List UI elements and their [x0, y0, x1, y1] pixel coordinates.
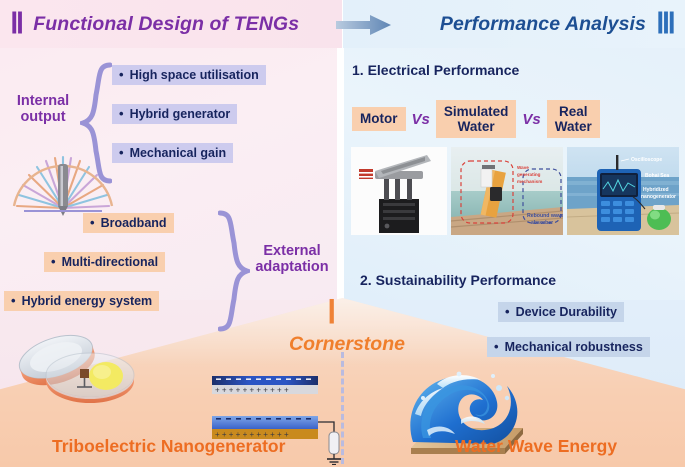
svg-text:Wave: Wave	[517, 165, 529, 170]
figure-root: Ⅱ Functional Design of TENGs Performance…	[0, 0, 685, 467]
roman-numeral-three-icon: Ⅲ	[656, 10, 675, 39]
heading-sustainability-performance: 2. Sustainability Performance	[360, 272, 556, 288]
external-item-2-label: Hybrid energy system	[22, 294, 153, 308]
triboelectric-nanogenerator-label: Triboelectric Nanogenerator	[52, 436, 285, 457]
external-brace-icon	[218, 210, 250, 332]
panel-divider	[337, 0, 344, 320]
comparison-item-motor: Motor	[352, 107, 406, 130]
internal-item-2-chip: •Mechanical gain	[112, 143, 233, 163]
heading-electrical-performance: 1. Electrical Performance	[352, 62, 519, 78]
right-header-title: Performance Analysis	[440, 13, 646, 36]
header-functional-design: Ⅱ Functional Design of TENGs	[0, 0, 342, 48]
internal-item-1-label: Hybrid generator	[130, 107, 231, 121]
roman-numeral-one-icon: Ⅰ	[327, 296, 336, 328]
svg-text:+ + + + + + + + + + +: + + + + + + + + + + +	[215, 386, 289, 395]
external-item-1: •Multi-directional	[44, 252, 165, 272]
external-item-2-chip: •Hybrid energy system	[4, 291, 159, 311]
comparison-row: Motor Vs SimulatedWater Vs RealWater	[352, 96, 678, 142]
external-item-0-chip: •Broadband	[83, 213, 174, 233]
right-arrow-icon	[336, 14, 392, 36]
bullet-icon: •	[119, 67, 124, 82]
bullet-icon: •	[90, 215, 95, 230]
bullet-icon: •	[119, 145, 124, 160]
radial-fan-teng-illustration	[8, 148, 118, 218]
sustainability-item-0-chip: •Device Durability	[498, 302, 624, 322]
sustainability-item-1-chip: •Mechanical robustness	[487, 337, 650, 357]
sustainability-item-1: •Mechanical robustness	[487, 337, 650, 357]
svg-text:absorber: absorber	[531, 220, 553, 226]
water-wave-energy-label: Water Wave Energy	[455, 436, 617, 457]
internal-item-2: •Mechanical gain	[112, 143, 233, 163]
linear-motor-photo	[351, 147, 447, 235]
svg-text:Oscilloscope: Oscilloscope	[631, 157, 662, 163]
comparison-separator-2: Vs	[522, 111, 540, 128]
bullet-icon: •	[119, 106, 124, 121]
svg-text:generating: generating	[517, 172, 541, 177]
external-item-0-label: Broadband	[101, 216, 167, 230]
internal-item-0: •High space utilisation	[112, 65, 266, 85]
header-performance-analysis: Performance Analysis Ⅲ	[343, 0, 685, 48]
external-item-1-chip: •Multi-directional	[44, 252, 165, 272]
external-item-1-label: Multi-directional	[62, 255, 159, 269]
left-header-title: Functional Design of TENGs	[33, 13, 299, 36]
sustainability-item-1-label: Mechanical robustness	[505, 340, 643, 354]
wave-tank-simulation-photo: Wave generating mechanism Rebound wave a…	[451, 147, 563, 235]
bullet-icon: •	[494, 339, 499, 354]
bullet-icon: •	[505, 304, 510, 319]
svg-text:nanogenerator: nanogenerator	[641, 194, 676, 200]
svg-text:Bohai Sea: Bohai Sea	[645, 173, 669, 179]
comparison-item-simulated-water: SimulatedWater	[436, 100, 517, 138]
internal-item-0-label: High space utilisation	[130, 68, 259, 82]
svg-text:Hybridized: Hybridized	[643, 187, 669, 193]
real-sea-oscilloscope-photo: Oscilloscope Bohai Sea Hybridized nanoge…	[567, 147, 679, 235]
internal-item-2-label: Mechanical gain	[130, 146, 227, 160]
bullet-icon: •	[51, 254, 56, 269]
spherical-teng-illustration	[14, 325, 139, 425]
internal-item-1: •Hybrid generator	[112, 104, 237, 124]
external-item-0: •Broadband	[83, 213, 174, 233]
bullet-icon: •	[11, 293, 16, 308]
svg-text:Rebound wave: Rebound wave	[527, 213, 563, 219]
external-item-2: •Hybrid energy system	[4, 291, 159, 311]
internal-item-1-chip: •Hybrid generator	[112, 104, 237, 124]
sustainability-item-0: •Device Durability	[498, 302, 624, 322]
cornerstone-title: Cornerstone	[272, 333, 422, 356]
external-adaptation-label: Externaladaptation	[246, 243, 338, 275]
svg-text:mechanism: mechanism	[517, 179, 542, 184]
internal-output-label: Internaloutput	[4, 93, 82, 125]
performance-photo-strip: Wave generating mechanism Rebound wave a…	[351, 147, 679, 235]
internal-item-0-chip: •High space utilisation	[112, 65, 266, 85]
roman-numeral-two-icon: Ⅱ	[10, 10, 23, 39]
sustainability-item-0-label: Device Durability	[516, 305, 617, 319]
comparison-separator-1: Vs	[412, 111, 430, 128]
comparison-item-real-water: RealWater	[547, 100, 600, 138]
